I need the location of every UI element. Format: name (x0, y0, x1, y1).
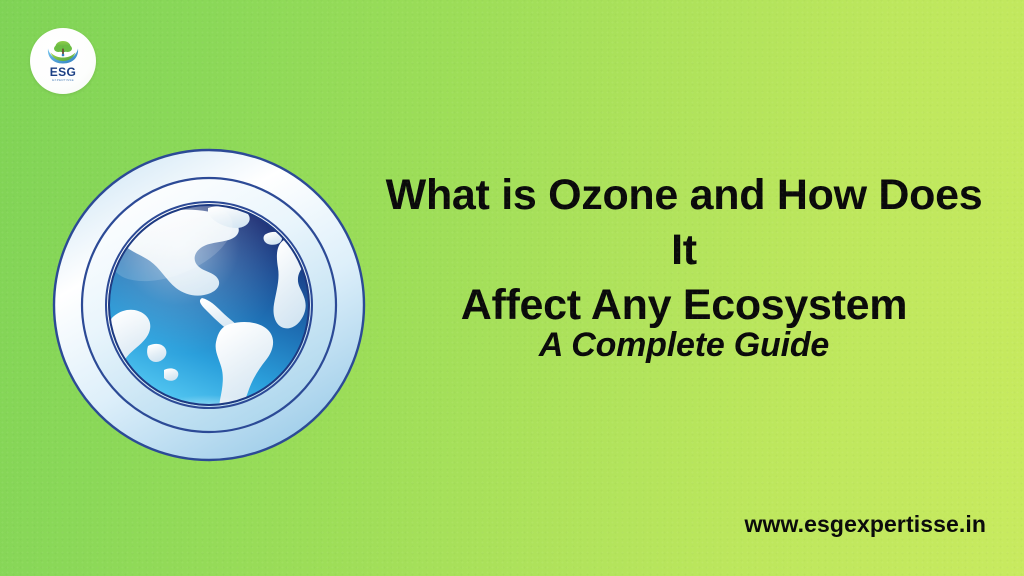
cover-image-canvas: ESG EXPERTISSE (0, 0, 1024, 576)
globe-icon (52, 148, 366, 462)
website-url[interactable]: www.esgexpertisse.in (745, 513, 986, 536)
page-subtitle: A Complete Guide (378, 325, 990, 366)
esg-logo-wordmark: ESG (50, 66, 77, 78)
page-title: What is Ozone and How Does It Affect Any… (378, 168, 990, 333)
earth-ozone-layer-illustration (52, 148, 366, 462)
tree-globe-icon (46, 40, 80, 65)
esg-logo[interactable]: ESG EXPERTISSE (30, 28, 96, 94)
esg-logo-tagline: EXPERTISSE (52, 79, 74, 82)
esg-logo-inner: ESG EXPERTISSE (40, 38, 86, 84)
page-title-line-1: What is Ozone and How Does It (378, 168, 990, 278)
